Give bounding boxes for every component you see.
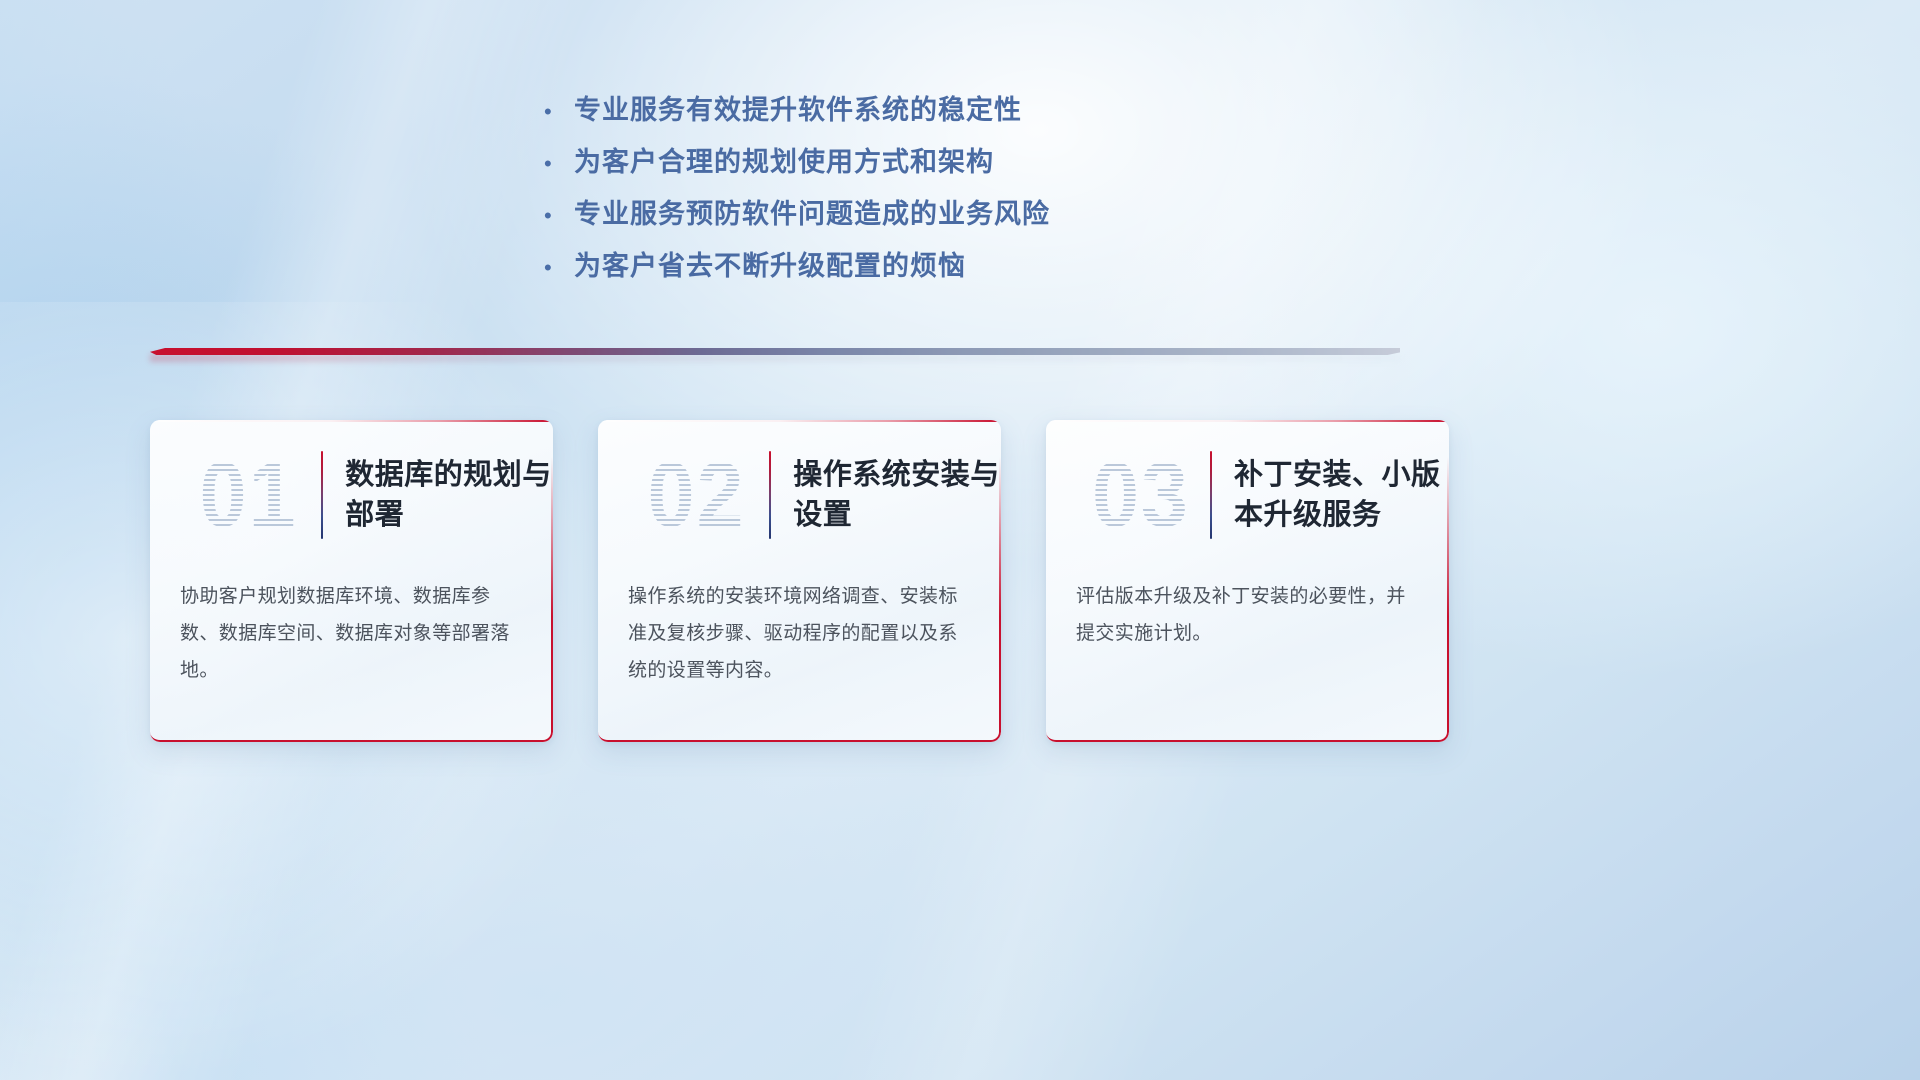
card-divider-bar xyxy=(1210,451,1212,539)
bullet-text: 为客户合理的规划使用方式和架构 xyxy=(574,140,994,179)
card-header: 01 数据库的规划与部署 xyxy=(150,420,553,570)
bullet-text: 专业服务预防软件问题造成的业务风险 xyxy=(574,192,1050,231)
service-card-01[interactable]: 01 数据库的规划与部署 协助客户规划数据库环境、数据库参数、数据库空间、数据库… xyxy=(150,420,553,742)
bullet-dot-icon: • xyxy=(540,101,574,123)
section-divider xyxy=(150,344,1400,362)
divider-glow xyxy=(150,354,1400,362)
service-card-03[interactable]: 03 补丁安装、小版本升级服务 评估版本升级及补丁安装的必要性，并提交实施计划。 xyxy=(1046,420,1449,742)
card-header: 02 操作系统安装与设置 xyxy=(598,420,1001,570)
divider-line xyxy=(150,348,1400,355)
card-header: 03 补丁安装、小版本升级服务 xyxy=(1046,420,1449,570)
service-card-02[interactable]: 02 操作系统安装与设置 操作系统的安装环境网络调查、安装标准及复核步骤、驱动程… xyxy=(598,420,1001,742)
card-divider-bar xyxy=(769,451,771,539)
card-title: 数据库的规划与部署 xyxy=(345,455,553,535)
card-number-watermark: 03 xyxy=(1081,449,1200,541)
card-number-watermark: 02 xyxy=(633,449,759,541)
bullet-text: 为客户省去不断升级配置的烦恼 xyxy=(574,244,966,283)
bullet-dot-icon: • xyxy=(540,257,574,279)
service-card-row: 01 数据库的规划与部署 协助客户规划数据库环境、数据库参数、数据库空间、数据库… xyxy=(150,420,1450,740)
card-body-text: 评估版本升级及补丁安装的必要性，并提交实施计划。 xyxy=(1046,570,1449,652)
list-item: • 为客户合理的规划使用方式和架构 xyxy=(540,140,1240,192)
card-divider-bar xyxy=(321,451,323,539)
card-title: 补丁安装、小版本升级服务 xyxy=(1234,455,1449,535)
bullet-dot-icon: • xyxy=(540,153,574,175)
list-item: • 为客户省去不断升级配置的烦恼 xyxy=(540,244,1240,296)
list-item: • 专业服务预防软件问题造成的业务风险 xyxy=(540,192,1240,244)
bullet-dot-icon: • xyxy=(540,205,574,227)
slide-canvas: • 专业服务有效提升软件系统的稳定性 • 为客户合理的规划使用方式和架构 • 专… xyxy=(0,0,1920,1080)
benefits-bullet-list: • 专业服务有效提升软件系统的稳定性 • 为客户合理的规划使用方式和架构 • 专… xyxy=(540,88,1240,296)
list-item: • 专业服务有效提升软件系统的稳定性 xyxy=(540,88,1240,140)
card-body-text: 操作系统的安装环境网络调查、安装标准及复核步骤、驱动程序的配置以及系统的设置等内… xyxy=(598,570,1001,689)
card-number-watermark: 01 xyxy=(185,449,311,541)
card-body-text: 协助客户规划数据库环境、数据库参数、数据库空间、数据库对象等部署落地。 xyxy=(150,570,553,689)
bullet-text: 专业服务有效提升软件系统的稳定性 xyxy=(574,88,1022,127)
card-title: 操作系统安装与设置 xyxy=(793,455,1001,535)
